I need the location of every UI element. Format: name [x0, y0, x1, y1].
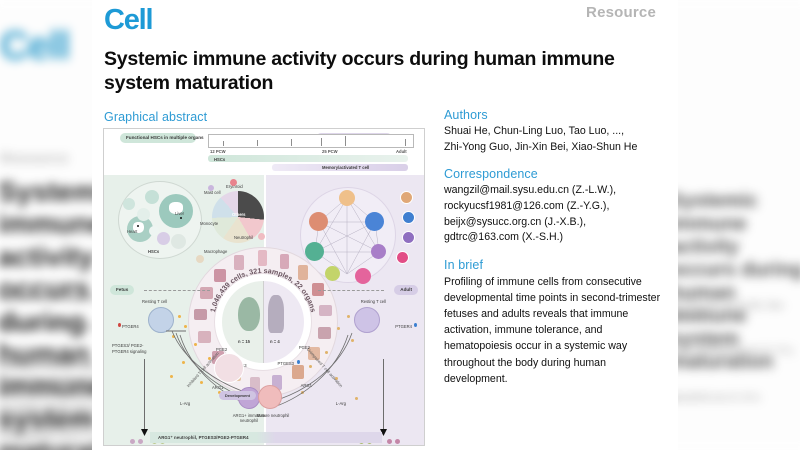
in-brief-heading: In brief: [444, 258, 666, 272]
adult-ptger4-label: PTGER4: [395, 324, 412, 329]
bg-right-extra: gdtrc@163.com (X.-S.H.): [670, 392, 800, 405]
network-node-5: [371, 244, 386, 259]
network-node-1: [339, 190, 355, 206]
hsc-cluster-label: HSCs: [148, 249, 159, 254]
fetus-stage-dashline: [144, 290, 210, 291]
hsc-circle-3: [145, 190, 159, 204]
svg-text:1,046,439 cells, 321 samples,: 1,046,439 cells, 321 samples, 22 organs: [208, 266, 318, 313]
timeline-start-label: 12 PCW: [210, 149, 226, 154]
timeline-tick-6: [405, 139, 406, 146]
correspondence-line-1[interactable]: wangzil@mail.sysu.edu.cn (Z.-L.W.),: [444, 183, 666, 199]
adult-cyt-dot-4: [395, 439, 400, 444]
correspondence-line-2[interactable]: rockyucsf1981@126.com (Z.-Y.G.),: [444, 199, 666, 215]
bg-right-correspondence: rockyucsf1981@126.com (Z.-Y.G.),: [670, 345, 800, 358]
authors-line-1: Shuai He, Chun-Ling Luo, Tao Luo, ...,: [444, 124, 666, 140]
timeline-tick-5: [345, 136, 346, 146]
adult-resting-t-label: Resting T cell: [361, 299, 386, 304]
hsc-panel-title: Functional HSCs in multiple organs: [120, 133, 196, 143]
erythroid-cell-icon: [230, 179, 237, 186]
bg-logo-text: Cell: [0, 24, 69, 69]
timeline-hsc-bar: [208, 155, 408, 162]
correspondence-line-4[interactable]: gdtrc@163.com (X.-S.H.): [444, 230, 666, 246]
article-page-card: Resource Cell Systemic immune activity o…: [92, 0, 678, 450]
fetus-cyt-dot-1: [130, 439, 135, 444]
pie-label-monocyte: Monocyte: [200, 221, 218, 226]
adult-stage-badge: Adult: [394, 285, 418, 295]
fetus-resting-t-label: Resting T cell: [142, 299, 167, 304]
authors-heading: Authors: [444, 108, 666, 122]
timeline-tick-3: [291, 139, 292, 146]
development-badge: Development: [219, 391, 256, 400]
cell-journal-logo: Cell: [104, 6, 152, 35]
timeline-end-label: Adult: [396, 149, 407, 154]
wheel-caption-text: 1,046,439 cells, 321 samples, 22 organs: [208, 266, 318, 313]
correspondence-line-3[interactable]: beijx@sysucc.org.cn (J.-X.B.),: [444, 215, 666, 231]
page-title: Systemic immune activity occurs during h…: [104, 48, 644, 96]
hsc-circle-7: [171, 234, 186, 249]
authors-block: Authors Shuai He, Chun-Ling Luo, Tao Luo…: [444, 108, 666, 155]
hsc-heart-leader-dot: [137, 225, 139, 227]
timeline-axis: [208, 134, 414, 148]
bg-right-authors: Zhi-Yong Guo, Jin-Xin Bei, Xiao-Shun He: [670, 300, 800, 326]
in-brief-text: Profiling of immune cells from consecuti…: [444, 274, 666, 387]
network-node-7: [355, 268, 371, 284]
fetus-signaling-label: PTGES3/ PGE2-PTGER4 signaling: [112, 343, 148, 354]
bg-resource-text: Resource: [0, 150, 68, 167]
graphical-abstract-figure[interactable]: Functional HSCs in multiple organs TRM s…: [103, 128, 425, 446]
adult-neutrophil-label: Mature neutrophil: [250, 413, 296, 418]
organ-icon-lung[interactable]: [402, 211, 415, 224]
hsc-circle-6: [157, 232, 170, 245]
correspondence-block: Correspondence wangzil@mail.sysu.edu.cn …: [444, 167, 666, 246]
timeline-mid-label: 25 PCW: [322, 149, 338, 154]
adult-outcome-arrow: [383, 359, 384, 431]
timeline-tick-4: [321, 138, 322, 146]
authors-line-2: Zhi-Yong Guo, Jin-Xin Bei, Xiao-Shun He: [444, 140, 666, 156]
hsc-liver-leader-dot: [180, 217, 182, 219]
timeline-tick-2: [257, 140, 258, 146]
fetus-outcome-arrow: [144, 359, 145, 431]
fetus-cyt-dot-2: [138, 439, 143, 444]
timeline-tcell-label: Memory/activated T cell: [322, 165, 369, 170]
adult-ptger4-marker-icon: [414, 323, 417, 327]
neutrophil-cell-icon: [258, 233, 265, 240]
in-brief-block: In brief Profiling of immune cells from …: [444, 258, 666, 387]
blurred-background-right: Systemic immune activity occurs during h…: [660, 0, 800, 450]
network-node-2: [309, 212, 328, 231]
organ-icon-intestine[interactable]: [402, 231, 415, 244]
hsc-heart-label: Heart: [127, 229, 137, 234]
article-meta-column: Authors Shuai He, Chun-Ling Luo, Tao Luo…: [444, 108, 666, 399]
graphical-abstract-heading: Graphical abstract: [104, 110, 207, 124]
adult-cyt-dot-5: [387, 439, 392, 444]
hsc-circle-8: [149, 226, 159, 236]
adult-mature-neutrophil: [258, 385, 282, 409]
fetus-stage-badge: Fetus: [110, 285, 134, 295]
correspondence-heading: Correspondence: [444, 167, 666, 181]
organ-icon-brain[interactable]: [400, 191, 413, 204]
organ-icon-spleen[interactable]: [396, 251, 409, 264]
adult-stage-dashline: [318, 290, 384, 291]
timeline-hsc-label: HSCs: [214, 157, 225, 162]
figure-bottom-summary-text: ARG1⁺ neutrophil, PTGES3/PGE2-PTGER4: [158, 435, 249, 441]
network-node-3: [365, 212, 384, 231]
pie-label-neutrophil: Neutrophil: [234, 235, 253, 240]
hsc-liver-label: Liver: [175, 211, 184, 216]
screenshot-stage: Cell Resource Systemic immune activity o…: [0, 0, 800, 450]
timeline-tick-1: [223, 141, 224, 146]
article-type-label: Resource: [586, 4, 656, 21]
figure-bottom-summary-bar: ARG1⁺ neutrophil, PTGES3/PGE2-PTGER4: [150, 432, 382, 443]
hsc-circle-4: [123, 198, 135, 210]
differentiation-cell-cluster: [214, 353, 244, 383]
fetus-ptger4-marker-icon: [118, 323, 121, 327]
mast-cell-icon: [208, 185, 214, 191]
hsc-circle-5: [137, 208, 150, 221]
pie-label-mast-cell: Mast cell: [204, 190, 221, 195]
fetus-ptger4-label: PTGER4: [122, 324, 139, 329]
pie-label-others: Others: [232, 212, 246, 217]
